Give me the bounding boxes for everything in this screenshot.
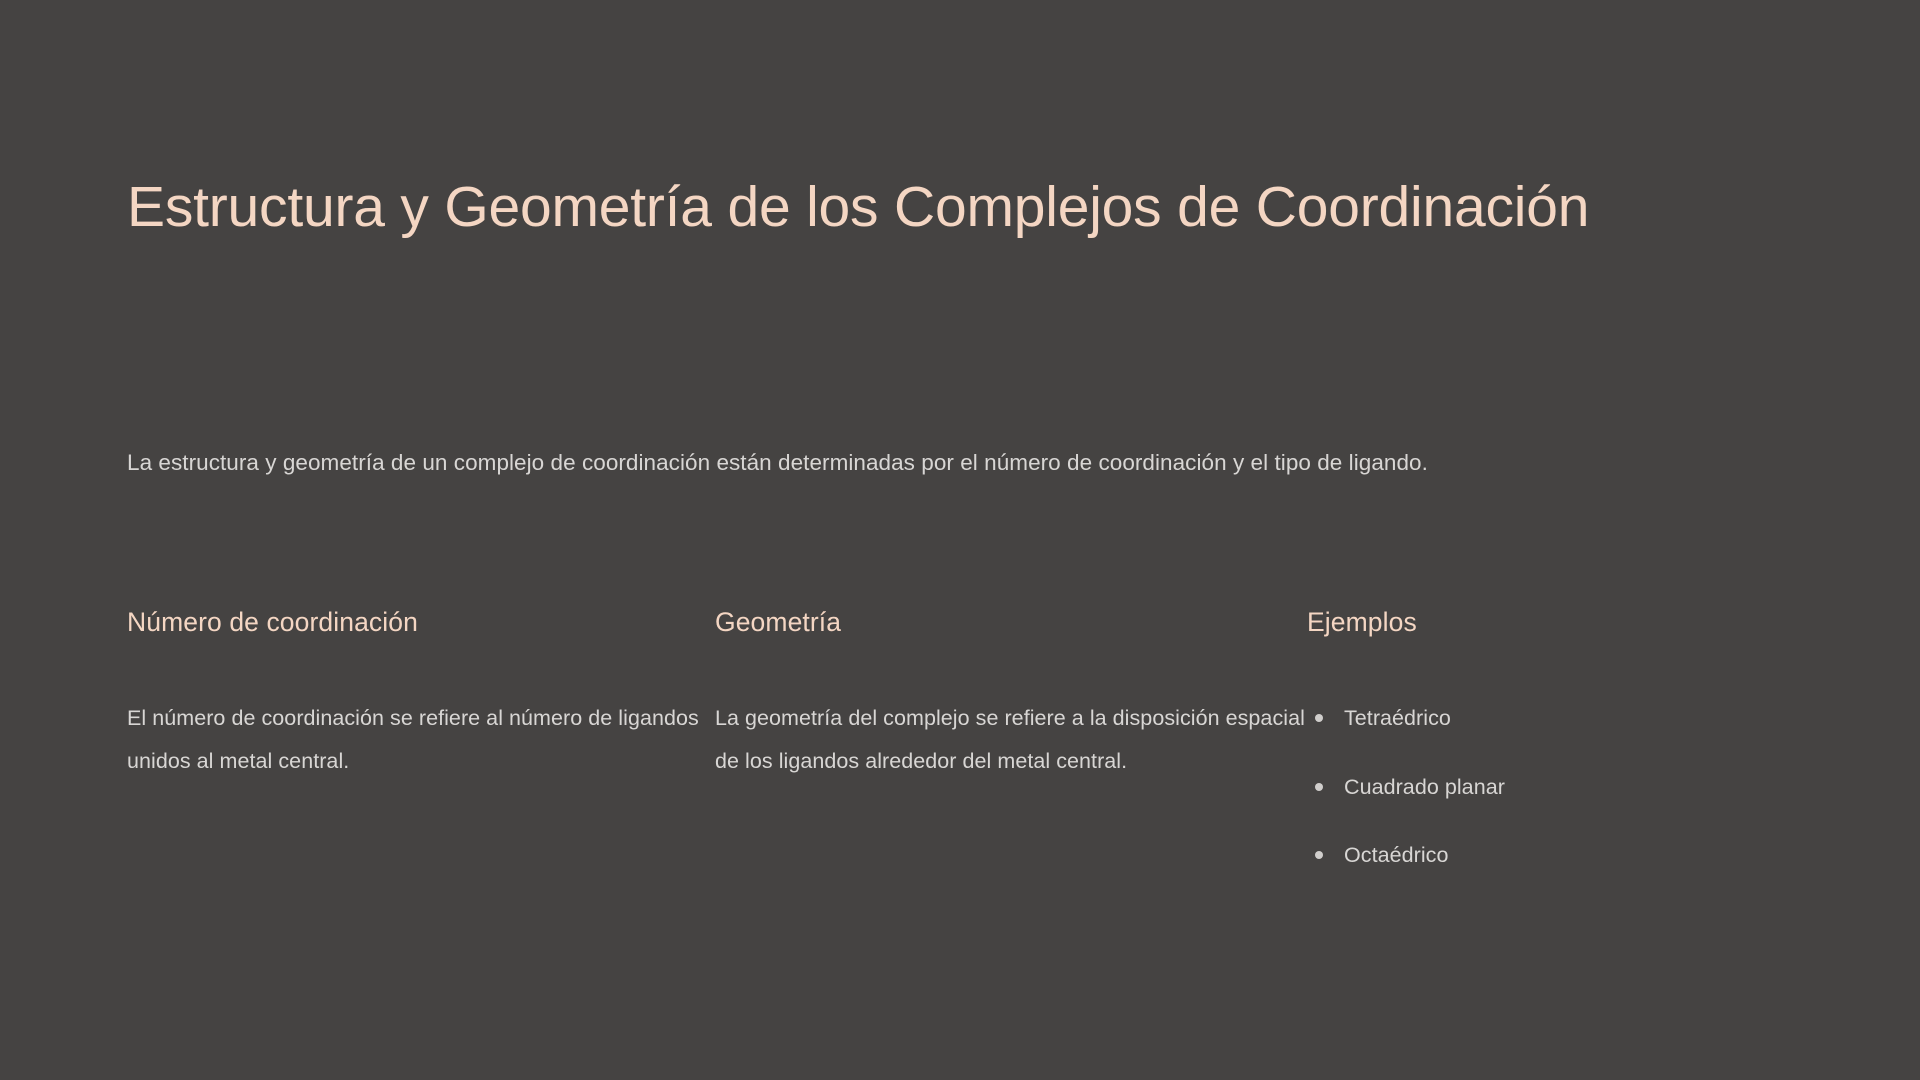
- column-heading-geometry: Geometría: [715, 605, 1307, 639]
- presentation-slide: Estructura y Geometría de los Complejos …: [0, 0, 1920, 1080]
- column-heading-examples: Ejemplos: [1307, 605, 1793, 639]
- list-item: Cuadrado planar: [1307, 766, 1793, 808]
- bullet-dot-icon: [1315, 783, 1323, 791]
- list-item-label: Cuadrado planar: [1344, 775, 1505, 799]
- bullet-dot-icon: [1315, 851, 1323, 859]
- columns-container: Número de coordinación El número de coor…: [127, 605, 1793, 876]
- column-examples: Ejemplos Tetraédrico Cuadrado planar Oct…: [1307, 605, 1793, 876]
- column-coordination-number: Número de coordinación El número de coor…: [127, 605, 715, 782]
- intro-paragraph: La estructura y geometría de un complejo…: [127, 440, 1751, 485]
- column-body-geometry: La geometría del complejo se refiere a l…: [715, 697, 1307, 781]
- page-title: Estructura y Geometría de los Complejos …: [127, 166, 1687, 249]
- list-item: Tetraédrico: [1307, 697, 1793, 739]
- column-body-coordination-number: El número de coordinación se refiere al …: [127, 697, 715, 781]
- list-item-label: Octaédrico: [1344, 843, 1448, 867]
- examples-list: Tetraédrico Cuadrado planar Octaédrico: [1307, 697, 1793, 875]
- column-geometry: Geometría La geometría del complejo se r…: [715, 605, 1307, 782]
- column-heading-coordination-number: Número de coordinación: [127, 605, 715, 639]
- list-item: Octaédrico: [1307, 834, 1793, 876]
- list-item-label: Tetraédrico: [1344, 706, 1451, 730]
- bullet-dot-icon: [1315, 714, 1323, 722]
